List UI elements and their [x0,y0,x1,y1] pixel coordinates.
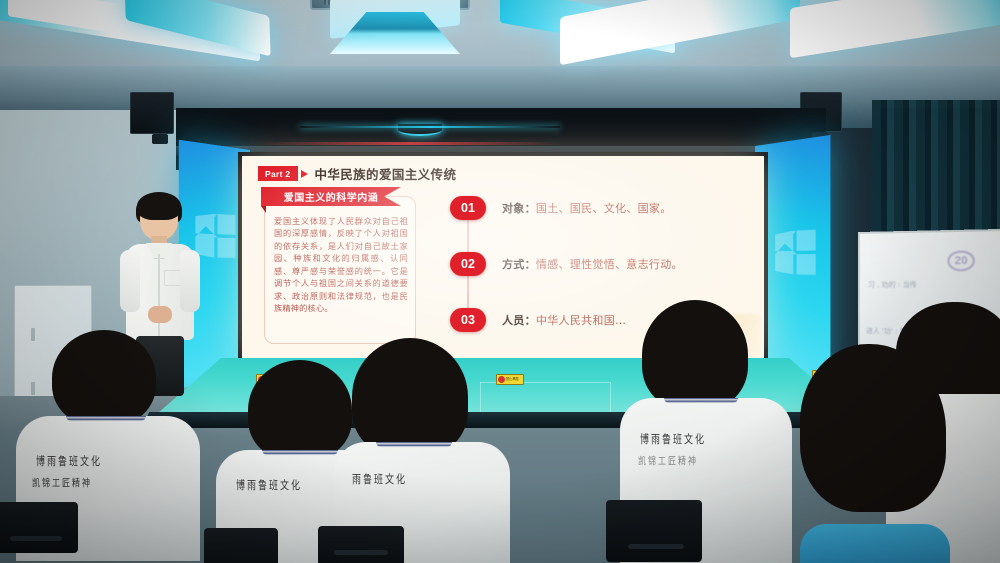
slide-title: 中华民族的爱国主义传统 [314,164,456,183]
list-item-text: 方式：情感、理性觉悟、意志行动。 [502,256,683,272]
student-hair [800,344,946,512]
chair-back [318,526,404,563]
ceiling-led-panel-5 [560,0,800,65]
shirt-print-line-1: 雨鲁班文化 [352,470,407,486]
student-seated: 博雨鲁班文化 凯锦工匠精神 [620,300,810,563]
student-collar [66,416,146,421]
presenter-arm-right [180,250,200,312]
presenter-hair [137,192,181,220]
chair-back [606,500,702,562]
list-item-value: 中华人民共和国… [536,314,626,327]
list-number-badge: 01 [450,196,486,220]
stage-marking-3 [610,382,611,412]
list-item-value: 情感、理性觉悟、意志行动。 [536,258,683,271]
badge-arrow-icon [301,170,308,178]
chair-slot [10,536,62,541]
student-seated: 雨鲁班文化 [330,338,520,563]
whiteboard-number-badge: 20 [947,250,975,271]
accent-light-curve [398,124,442,136]
presenter-shirt-placket [158,254,160,338]
list-item-label: 方式： [502,258,536,271]
list-item-text: 对象：国土、国民、文化、国家。 [502,200,672,216]
student-collar [376,442,452,447]
student-collar [664,398,738,403]
shirt-print-line-1: 博雨鲁班文化 [236,476,302,492]
windows-logo-icon [775,230,816,275]
slide-definition-card: 爱国主义的科学内涵 爱国主义体现了人民群众对自己祖国的深厚感情，反映了个人对祖国… [264,196,416,344]
whiteboard-scrawl-1: 习 , 劝的 : 当传 [868,280,917,290]
list-number-badge: 03 [450,308,486,332]
list-item-value: 国土、国民、文化、国家。 [536,202,672,215]
student-hair [52,330,156,426]
slide-part-badge: Part 2 [258,166,298,181]
slide-header: Part 2 中华民族的爱国主义传统 [258,164,456,183]
bezel-red-reflection [260,142,560,145]
classroom-scene: Part 2 中华民族的爱国主义传统 爱国主义的科学内涵 爱国主义体现了人民群众… [0,0,1000,563]
speaker-mount-left [152,134,168,144]
chair-back [204,528,278,563]
presenter-hands [148,306,172,323]
shirt-print-line-2: 凯锦工匠精神 [32,477,92,491]
student-hair [352,338,468,456]
list-item: 02 方式：情感、理性觉悟、意志行动。 [450,252,750,276]
ribbon-fold [261,206,266,213]
list-item-label: 对象： [502,202,536,215]
student-seated: 博雨鲁班文化 凯锦工匠精神 [0,390,215,563]
chair-slot [628,544,684,549]
list-item-text: 人员：中华人民共和国… [502,312,626,328]
shirt-print-line-2: 凯锦工匠精神 [638,455,698,469]
presenter-arm-left [120,250,140,312]
card-ribbon-label: 爱国主义的科学内涵 [261,187,401,206]
list-item-label: 人员： [502,314,536,327]
card-body-text: 爱国主义体现了人民群众对自己祖国的深厚感情，反映了个人对祖国的依存关系，是人们对… [274,215,408,315]
shirt-print-line-1: 博雨鲁班文化 [36,452,102,468]
student-shirt [800,524,950,563]
ceiling-led-panel-6 [790,0,1000,58]
screen-top-bezel [176,146,826,156]
student-seated [790,378,960,563]
shirt-print-line-1: 博雨鲁班文化 [640,430,706,446]
list-item: 01 对象：国土、国民、文化、国家。 [450,196,750,220]
ceiling-speaker-left [130,92,174,134]
chair-back [0,502,78,553]
student-collar [262,450,338,455]
list-number-badge: 02 [450,252,486,276]
door-hinge-top [31,328,35,341]
chair-slot [334,550,388,555]
student-hair [642,300,748,410]
